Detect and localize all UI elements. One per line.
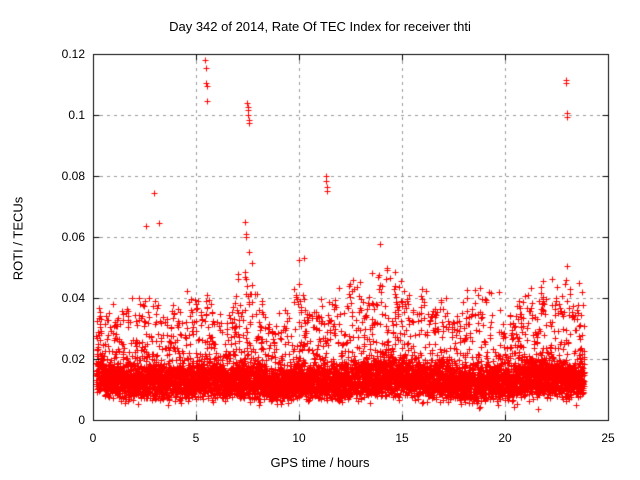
y-tick-label: 0.02 <box>25 353 85 365</box>
y-tick-label: 0 <box>25 414 85 426</box>
x-axis-label: GPS time / hours <box>0 456 640 469</box>
y-tick-label: 0.08 <box>25 170 85 182</box>
y-tick-label: 0.1 <box>25 109 85 121</box>
plot-figure: Day 342 of 2014, Rate Of TEC Index for r… <box>0 0 640 480</box>
y-axis-label: ROTI / TECUs <box>12 159 25 319</box>
y-tick-label: 0.06 <box>25 231 85 243</box>
x-tick-label: 5 <box>176 432 216 444</box>
y-tick-label: 0.04 <box>25 292 85 304</box>
x-tick-label: 10 <box>279 432 319 444</box>
x-tick-label: 15 <box>382 432 422 444</box>
chart-title: Day 342 of 2014, Rate Of TEC Index for r… <box>0 20 640 33</box>
x-tick-label: 25 <box>588 432 628 444</box>
x-tick-label: 0 <box>73 432 113 444</box>
y-tick-label: 0.12 <box>25 48 85 60</box>
x-tick-label: 20 <box>485 432 525 444</box>
scatter-plot-canvas <box>0 0 640 480</box>
